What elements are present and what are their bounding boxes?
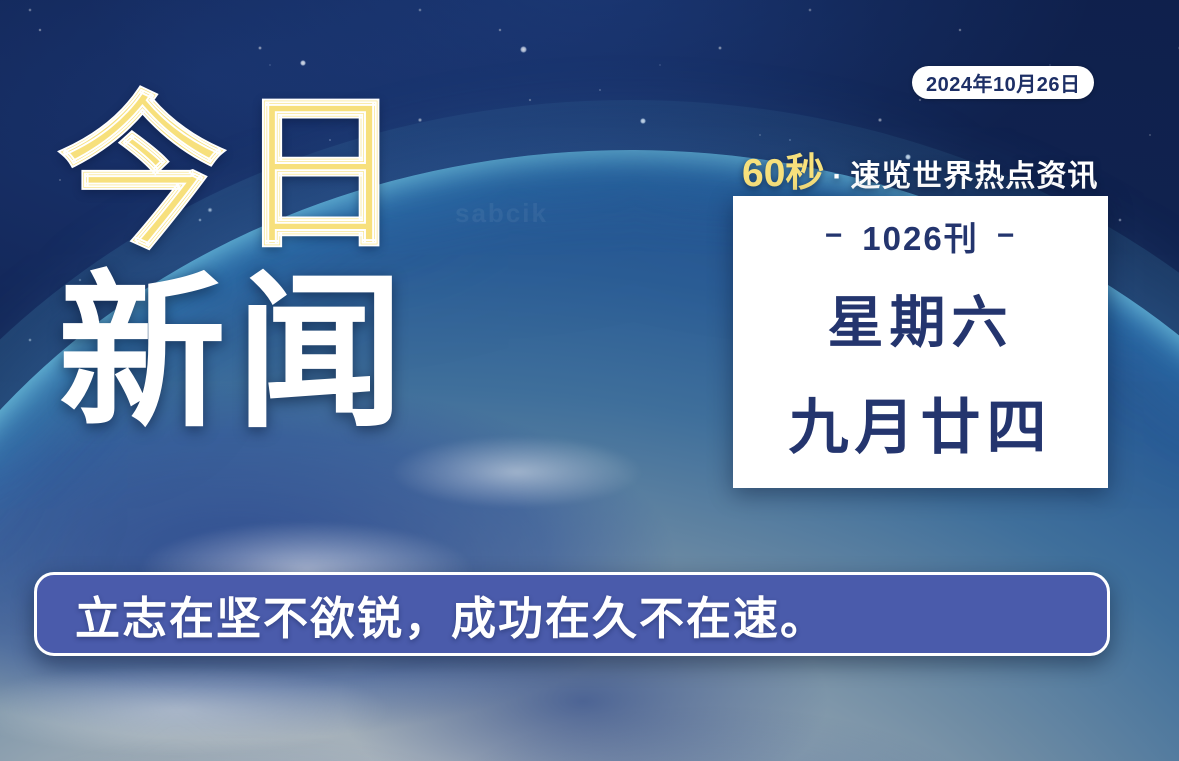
issue-dash-right: − xyxy=(997,219,1017,253)
news-poster: sabcik 2024年10月26日 今日 新闻 60秒 · 速览世界热点资讯 … xyxy=(0,0,1179,761)
brand-title: 今日 新闻 xyxy=(58,92,414,435)
issue-number: 1026刊 xyxy=(862,212,978,260)
tagline-accent-text: 60秒 xyxy=(742,142,824,198)
quote-text: 立志在坚不欲锐，成功在久不在速。 xyxy=(37,582,827,647)
issue-dash-left: − xyxy=(825,219,845,253)
tagline-body-text: 速览世界热点资讯 xyxy=(850,151,1098,195)
brand-title-line-2: 新闻 xyxy=(58,271,414,436)
date-badge: 2024年10月26日 xyxy=(912,66,1094,99)
tagline-separator: · xyxy=(828,160,846,194)
tagline: 60秒 · 速览世界热点资讯 xyxy=(742,142,1098,198)
issue-info-card: − 1026刊 − 星期六 九月廿四 xyxy=(733,196,1108,488)
quote-banner: 立志在坚不欲锐，成功在久不在速。 xyxy=(34,572,1110,656)
date-badge-text: 2024年10月26日 xyxy=(926,68,1080,97)
brand-title-line-1: 今日 xyxy=(58,92,414,257)
lunar-date-label: 九月廿四 xyxy=(789,379,1053,466)
issue-number-row: − 1026刊 − xyxy=(825,212,1016,260)
weekday-label: 星期六 xyxy=(828,278,1014,359)
content-layer: 2024年10月26日 今日 新闻 60秒 · 速览世界热点资讯 − 1026刊… xyxy=(0,0,1179,761)
